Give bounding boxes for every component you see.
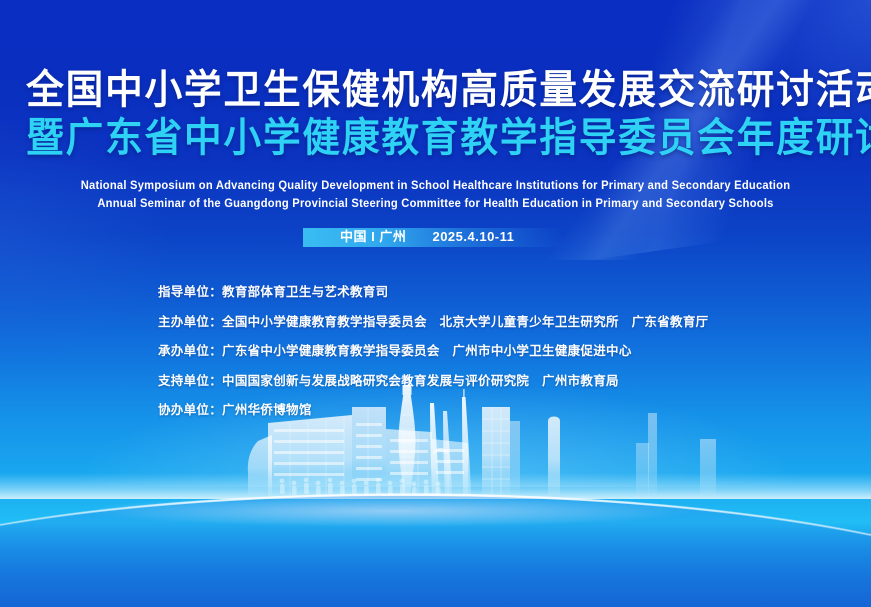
organization-row: 支持单位：中国国家创新与发展战略研究会教育发展与评价研究院 广州市教育局: [158, 375, 818, 388]
ground-light-line: [0, 493, 871, 529]
organization-value: 广州华侨博物馆: [222, 403, 312, 417]
ground-mist: [0, 473, 871, 499]
subtitle-block: National Symposium on Advancing Quality …: [0, 178, 871, 214]
venue-location: 中国 I 广州: [340, 229, 406, 244]
event-date: 2025.4.10-11: [432, 229, 514, 244]
headline-block: 全国中小学卫生保健机构高质量发展交流研讨活动 暨广东省中小学健康教育教学指导委员…: [0, 70, 871, 158]
organization-value: 教育部体育卫生与艺术教育司: [222, 285, 388, 299]
organization-row: 协办单位：广州华侨博物馆: [158, 404, 818, 417]
organization-label: 承办单位：: [158, 344, 222, 358]
organization-row: 指导单位：教育部体育卫生与艺术教育司: [158, 286, 818, 299]
subtitle-english-line-2: Annual Seminar of the Guangdong Provinci…: [13, 196, 858, 214]
organization-value: 广东省中小学健康教育教学指导委员会 广州市中小学卫生健康促进中心: [222, 344, 632, 358]
organization-label: 主办单位：: [158, 315, 222, 329]
organization-list: 指导单位：教育部体育卫生与艺术教育司 主办单位：全国中小学健康教育教学指导委员会…: [158, 286, 818, 434]
venue-date-badge: 中国 I 广州 2025.4.10-11: [303, 225, 603, 249]
foreground-arc: [0, 477, 871, 607]
page-title-secondary: 暨广东省中小学健康教育教学指导委员会年度研讨活动: [26, 118, 845, 158]
organization-label: 协办单位：: [158, 403, 222, 417]
subtitle-english-line-1: National Symposium on Advancing Quality …: [13, 178, 858, 196]
organization-value: 中国国家创新与发展战略研究会教育发展与评价研究院 广州市教育局: [222, 374, 619, 388]
organization-row: 承办单位：广东省中小学健康教育教学指导委员会 广州市中小学卫生健康促进中心: [158, 345, 818, 358]
organization-label: 指导单位：: [158, 285, 222, 299]
block-tower-right-icon: [700, 439, 716, 495]
conference-poster: 全国中小学卫生保健机构高质量发展交流研讨活动 暨广东省中小学健康教育教学指导委员…: [0, 0, 871, 607]
page-title-primary: 全国中小学卫生保健机构高质量发展交流研讨活动: [26, 70, 845, 110]
organization-row: 主办单位：全国中小学健康教育教学指导委员会 北京大学儿童青少年卫生研究所 广东省…: [158, 316, 818, 329]
organization-value: 全国中小学健康教育教学指导委员会 北京大学儿童青少年卫生研究所 广东省教育厅: [222, 315, 708, 329]
crowd-figures: [280, 478, 441, 495]
organization-label: 支持单位：: [158, 374, 222, 388]
